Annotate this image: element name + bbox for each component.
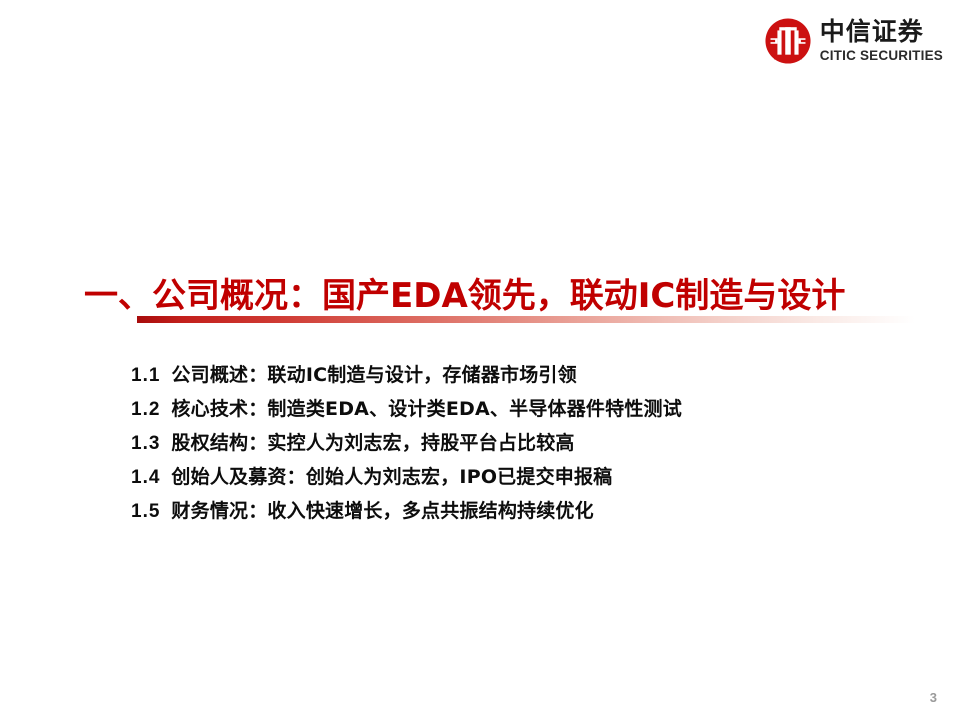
brand-name-cn: 中信证券	[820, 19, 943, 44]
title-underline-rule	[137, 316, 915, 323]
agenda-item-1[interactable]: 1.1公司概述：联动IC制造与设计，存储器市场引领	[131, 358, 682, 392]
agenda-item-number: 1.2	[131, 399, 160, 420]
agenda-list: 1.1公司概述：联动IC制造与设计，存储器市场引领 1.2核心技术：制造类EDA…	[131, 358, 682, 528]
agenda-item-5[interactable]: 1.5财务情况：收入快速增长，多点共振结构持续优化	[131, 494, 682, 528]
presentation-slide: 中信证券 CITIC SECURITIES 一、公司概况：国产EDA领先，联动I…	[0, 0, 959, 719]
agenda-item-number: 1.3	[131, 433, 160, 454]
agenda-item-2[interactable]: 1.2核心技术：制造类EDA、设计类EDA、半导体器件特性测试	[131, 392, 682, 426]
brand-logo-block: 中信证券 CITIC SECURITIES	[765, 18, 943, 64]
brand-name-en: CITIC SECURITIES	[820, 49, 943, 63]
agenda-item-label: 公司概述：联动IC制造与设计，存储器市场引领	[171, 364, 576, 386]
agenda-item-label: 股权结构：实控人为刘志宏，持股平台占比较高	[171, 432, 574, 454]
agenda-item-number: 1.1	[131, 365, 160, 386]
agenda-item-3[interactable]: 1.3股权结构：实控人为刘志宏，持股平台占比较高	[131, 426, 682, 460]
agenda-item-label: 财务情况：收入快速增长，多点共振结构持续优化	[171, 500, 593, 522]
agenda-item-4[interactable]: 1.4创始人及募资：创始人为刘志宏，IPO已提交申报稿	[131, 460, 682, 494]
agenda-item-number: 1.5	[131, 501, 160, 522]
section-title: 一、公司概况：国产EDA领先，联动IC制造与设计	[84, 268, 845, 317]
brand-wordmark: 中信证券 CITIC SECURITIES	[820, 19, 943, 63]
citic-circle-monogram-icon	[765, 18, 811, 64]
agenda-item-label: 核心技术：制造类EDA、设计类EDA、半导体器件特性测试	[171, 398, 682, 420]
agenda-item-number: 1.4	[131, 467, 160, 488]
agenda-item-label: 创始人及募资：创始人为刘志宏，IPO已提交申报稿	[171, 466, 612, 488]
page-number: 3	[930, 690, 937, 705]
